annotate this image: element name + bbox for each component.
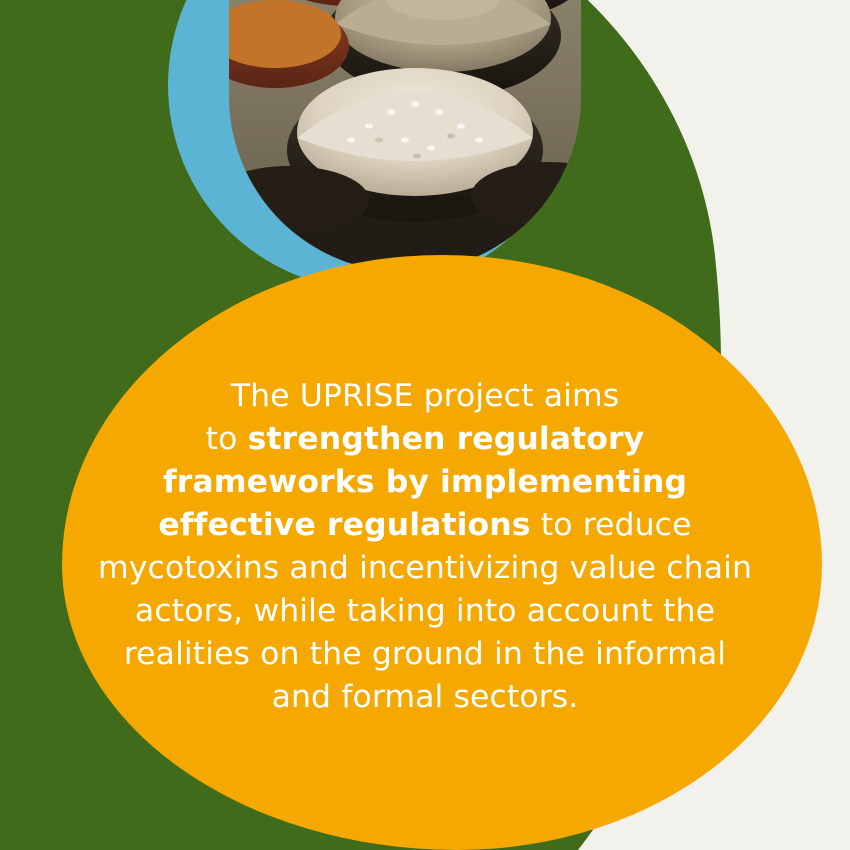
grain-market-photo <box>229 0 581 272</box>
statement-line2-bold: strengthen regulatory <box>248 421 645 457</box>
poster-canvas: The UPRISE project aims to strengthen re… <box>0 0 850 850</box>
statement-lead: The UPRISE project aims <box>231 378 620 414</box>
statement-line2-plain: to <box>206 421 248 457</box>
project-statement: The UPRISE project aims to strengthen re… <box>95 375 755 719</box>
statement-line4-plain: to reduce <box>531 507 692 543</box>
photo-illustration <box>229 0 581 272</box>
statement-rest: mycotoxins and incentivizing value chain… <box>98 550 752 715</box>
photo-image <box>229 0 581 272</box>
statement-line4-bold: effective regulations <box>158 507 530 543</box>
statement-line3-bold: frameworks by implementing <box>163 464 687 500</box>
